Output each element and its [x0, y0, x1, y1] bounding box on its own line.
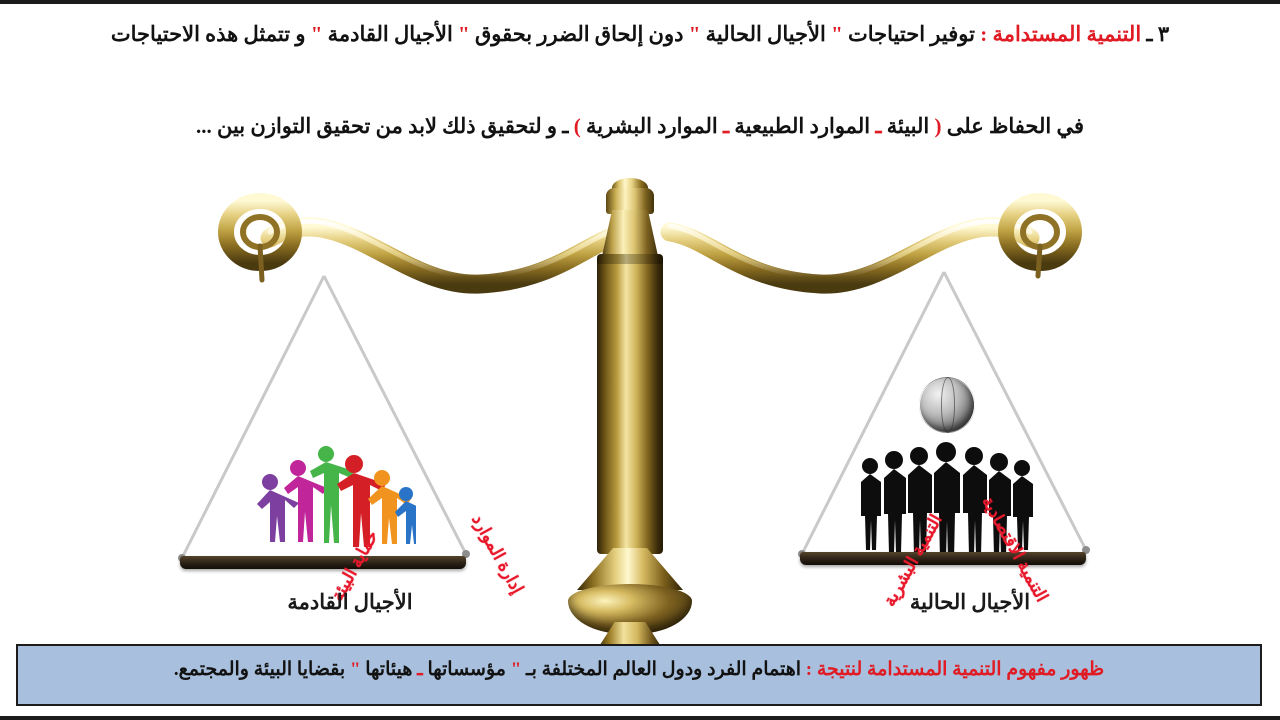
heading2-seg-b: ـ و لتحقيق ذلك لابد من تحقيق التوازن بين… [196, 114, 568, 138]
heading-term: التنمية المستدامة : [980, 22, 1141, 46]
callout-quoted-institutions: مؤسساتها [427, 659, 506, 680]
quote-close-2: " [311, 22, 323, 46]
quote-open-1: " [831, 22, 843, 46]
callout-quote-dash: ـ [417, 659, 423, 680]
heading-line-2: في الحفاظ على ( البيئة ـ الموارد الطبيعي… [0, 114, 1280, 139]
heading2-seg-a: في الحفاظ على [947, 114, 1084, 138]
callout-tail: بقضايا البيئة والمجتمع. [174, 659, 345, 680]
list-separator-2: ـ [723, 114, 729, 138]
callout-quote-close: " [350, 659, 361, 680]
heading-seg-b: دون إلحاق الضرر بحقوق [475, 22, 683, 46]
summary-callout-box: ظهور مفهوم التنمية المستدامة لنتيجة : اه… [16, 644, 1262, 706]
quoted-current-generations: الأجيال الحالية [706, 22, 826, 46]
bottom-border-rule [0, 716, 1280, 720]
callout-red-lead: ظهور مفهوم التنمية المستدامة لنتيجة : [806, 659, 1104, 680]
quote-open-2: " [458, 22, 470, 46]
heading-seg-a: توفير احتياجات [848, 22, 975, 46]
colored-human-figures-icon [246, 438, 416, 560]
left-pan-caption: الأجيال القادمة [230, 590, 470, 615]
heading-seg-c: و تتمثل هذه الاحتياجات [111, 22, 306, 46]
top-border-rule [0, 0, 1280, 4]
quote-close-1: " [689, 22, 701, 46]
quoted-future-generations: الأجيال القادمة [328, 22, 453, 46]
summary-callout-text: ظهور مفهوم التنمية المستدامة لنتيجة : اه… [18, 658, 1260, 681]
right-pan-caption: الأجيال الحالية [850, 590, 1090, 615]
list-item-natural-resources: الموارد الطبيعية [734, 114, 870, 138]
list-item-human-resources: الموارد البشرية [586, 114, 718, 138]
callout-quote-open: " [511, 659, 522, 680]
list-separator-1: ـ [875, 114, 881, 138]
list-item-environment: البيئة [887, 114, 930, 138]
callout-mid: اهتمام الفرد ودول العالم المختلفة بـ [526, 659, 801, 680]
column-shaft [597, 254, 663, 554]
slide-canvas: ٣ ـ التنمية المستدامة : توفير احتياجات "… [0, 0, 1280, 720]
left-scale-pan [180, 556, 466, 569]
heading-line-1: ٣ ـ التنمية المستدامة : توفير احتياجات "… [0, 22, 1280, 47]
balance-scale-illustration: حماية البيئة إدارة الموارد التنمية البشر… [150, 170, 1150, 640]
callout-quoted-bodies: هيئاتها [365, 659, 412, 680]
paren-open: ( [934, 114, 941, 138]
heading-item-number: ٣ ـ [1146, 22, 1169, 46]
right-scale-pan [800, 552, 1086, 565]
paren-close: ) [574, 114, 581, 138]
